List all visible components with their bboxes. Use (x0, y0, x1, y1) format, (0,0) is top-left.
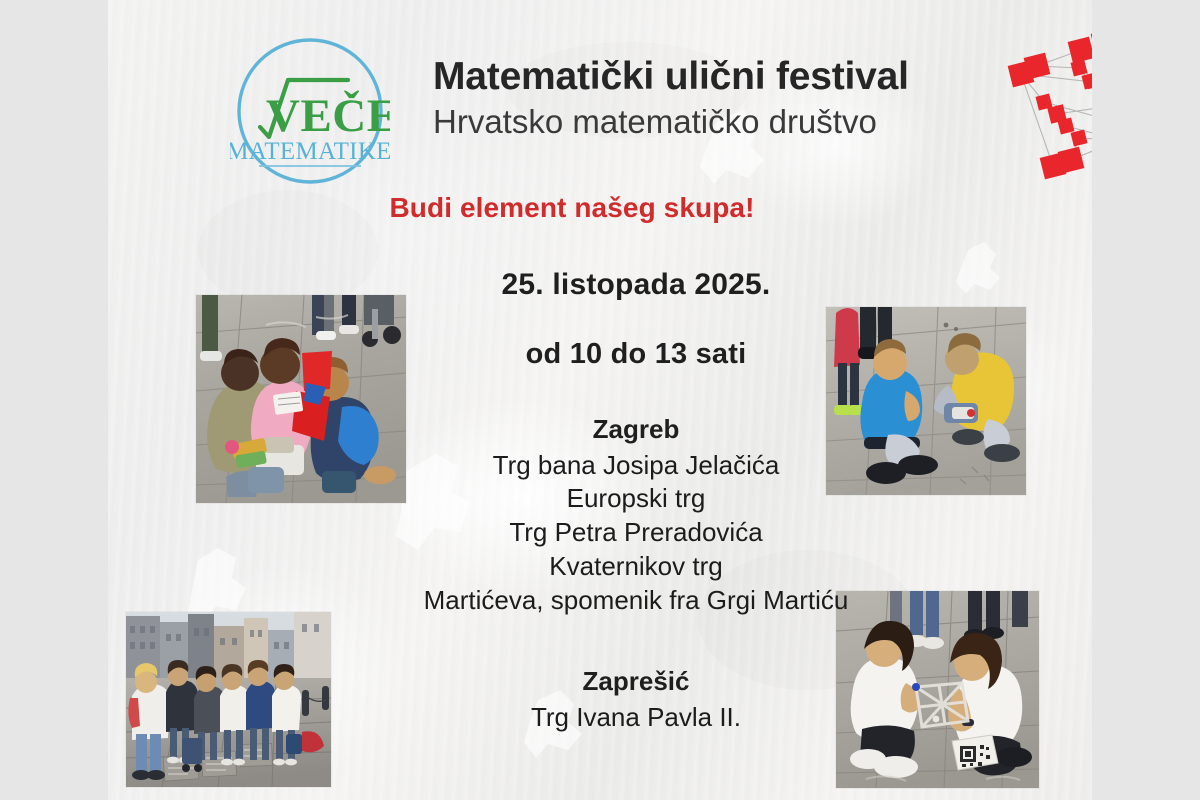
venue-zagreb-4: Kvaternikov trg (356, 550, 916, 584)
venue-zagreb-5: Martićeva, spomenik fra Grgi Martiću (356, 584, 916, 618)
network-nodes (1008, 29, 1092, 180)
venue-zagreb-2: Europski trg (356, 482, 916, 516)
logo-svg: VEČER MATEMATIKE (230, 31, 390, 191)
venue-zagreb-1: Trg bana Josipa Jelačića (356, 449, 916, 483)
city-name-zagreb: Zagreb (356, 413, 916, 446)
poster-canvas: VEČER MATEMATIKE Matematički ulični fest… (108, 0, 1092, 800)
network-svg (1001, 22, 1092, 187)
photo-group-svg (126, 612, 331, 787)
tagline-text: Budi element našeg skupa! (389, 192, 754, 224)
event-date: 25. listopada 2025. (356, 268, 916, 302)
poster-frame: VEČER MATEMATIKE Matematički ulični fest… (0, 0, 1200, 800)
location-block-zapresic: Zaprešić Trg Ivana Pavla II. (356, 665, 916, 734)
header-block: Matematički ulični festival Hrvatsko mat… (433, 56, 993, 140)
venue-zagreb-3: Trg Petra Preradovića (356, 516, 916, 550)
page-title: Matematički ulični festival (433, 56, 993, 98)
logo-word-matematike: MATEMATIKE (230, 138, 390, 165)
event-time: od 10 do 13 sati (356, 338, 916, 371)
tagline: Budi element našeg skupa! (108, 192, 1092, 224)
vecer-matematike-logo: VEČER MATEMATIKE (230, 31, 390, 191)
red-squares-network (1001, 22, 1092, 187)
venue-zapresic-1: Trg Ivana Pavla II. (356, 701, 916, 735)
photo-group-in-city-square (126, 612, 331, 787)
location-block-zagreb: Zagreb Trg bana Josipa Jelačića Europski… (356, 413, 916, 617)
page-subtitle: Hrvatsko matematičko društvo (433, 104, 993, 140)
event-info-column: 25. listopada 2025. od 10 do 13 sati Zag… (356, 268, 916, 735)
city-name-zapresic: Zaprešić (356, 665, 916, 698)
logo-word-vecer: VEČER (266, 90, 390, 142)
